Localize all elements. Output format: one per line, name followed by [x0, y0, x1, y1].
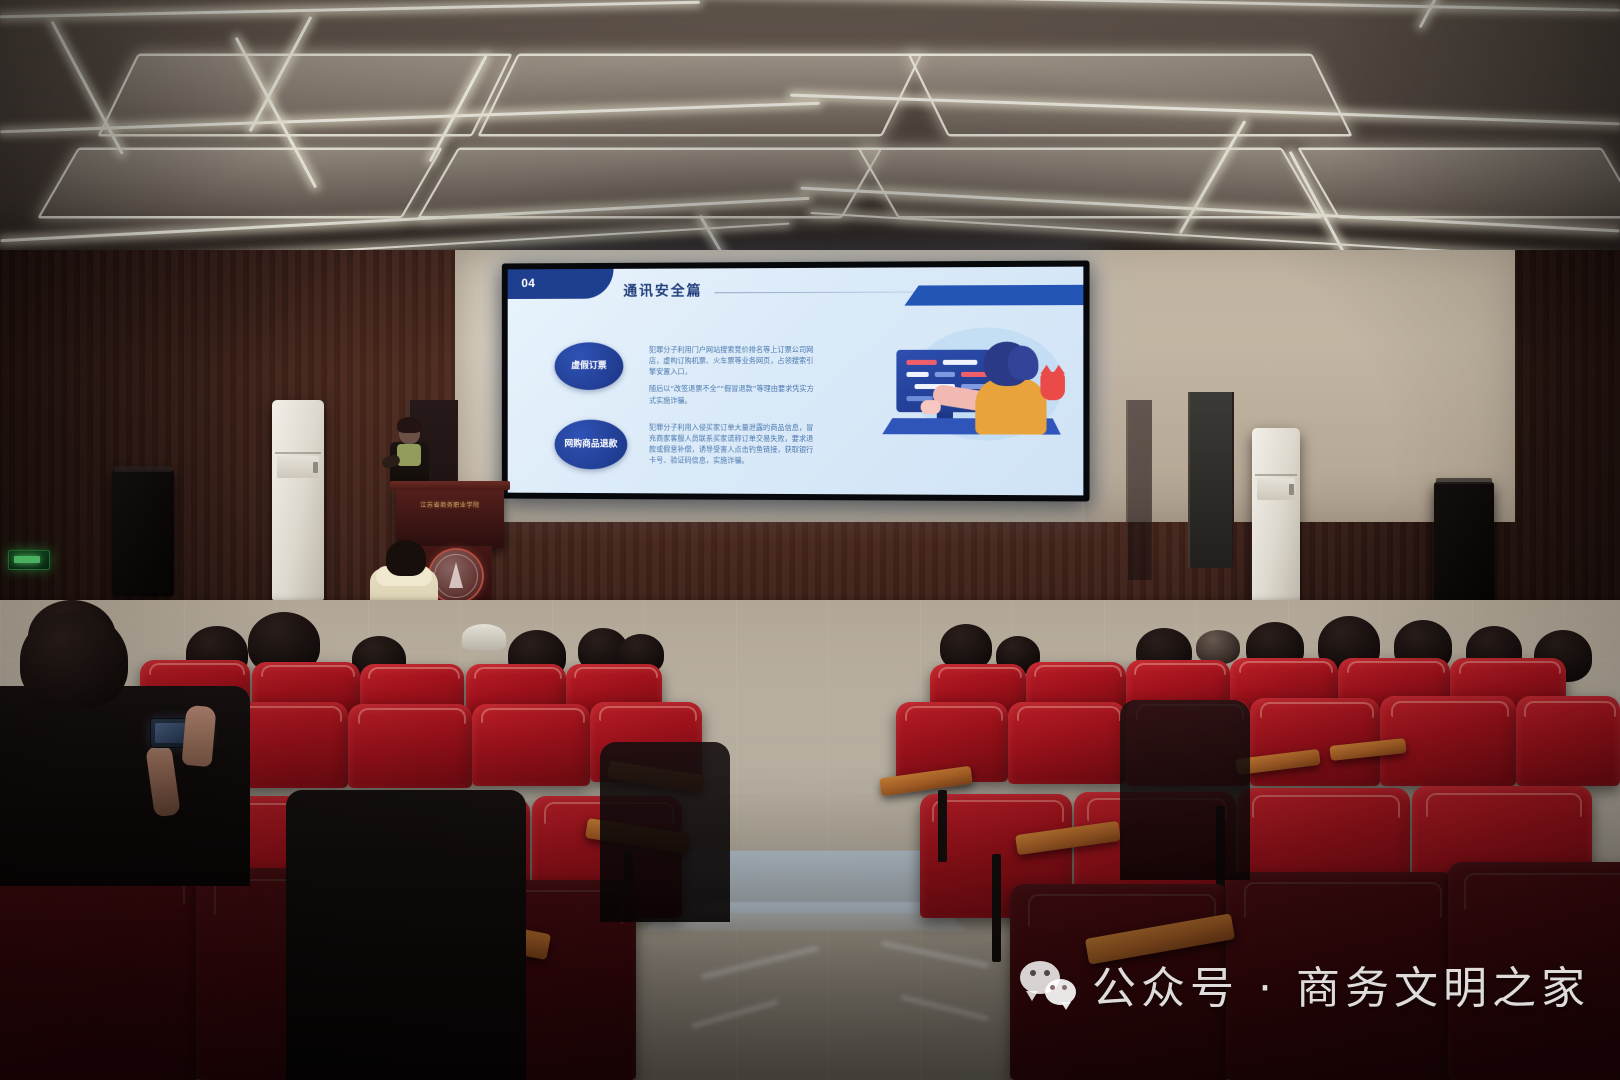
- ac-seam: [1255, 474, 1297, 476]
- ceiling-led-strip: [51, 21, 124, 155]
- speaker-left: [112, 470, 174, 596]
- emblem-ring: [434, 554, 478, 598]
- presentation-slide: 04 通讯安全篇 虚假订票 网购商品退款 犯罪分子利用门户网站搜索竞价排名等上订…: [508, 267, 1084, 496]
- audience-head: [1196, 630, 1240, 664]
- slide-title: 通讯安全篇: [623, 280, 702, 300]
- slide-corner-accent: [904, 285, 1083, 306]
- auditorium-seat: [348, 704, 472, 788]
- audience-hand: [181, 705, 216, 767]
- slide-illustration: [878, 325, 1069, 457]
- seat-leg: [992, 854, 1001, 962]
- lectern-top: [390, 481, 510, 490]
- code-line: [943, 360, 977, 365]
- auditorium-photo: 04 通讯安全篇 虚假订票 网购商品退款 犯罪分子利用门户网站搜索竞价排名等上订…: [0, 0, 1620, 1080]
- slide-topic-label-2: 网购商品退款: [555, 420, 628, 470]
- attendee-hair: [386, 540, 426, 576]
- ceiling-led-strip: [0, 1, 700, 19]
- slide-bullet: 犯罪分子利用入侵买家订单大量泄露的商品信息，冒充商家客服人员联系买家谎称订单交易…: [649, 422, 816, 467]
- code-line: [935, 372, 955, 377]
- wechat-icon: [1020, 961, 1076, 1007]
- audience-silhouette: [1120, 700, 1250, 880]
- auditorium-seat: [472, 704, 590, 786]
- ceiling-led-strip: [1419, 0, 1497, 28]
- speaker-top: [114, 466, 172, 472]
- slide-bullet: 犯罪分子利用门户网站搜索竞价排名等上订票公司网店，虚构订购机票、火车票等业务网页…: [649, 344, 816, 378]
- code-line: [906, 360, 936, 365]
- ac-indicator: [1289, 484, 1294, 495]
- ceiling-light-panel: [861, 150, 1319, 216]
- code-line: [906, 372, 928, 377]
- illustration-cat-icon: [1040, 372, 1065, 400]
- wechat-eye: [1062, 985, 1067, 990]
- ceiling-light-panel: [41, 150, 439, 216]
- audience-silhouette: [286, 790, 526, 1080]
- ac-indicator: [313, 462, 318, 473]
- exit-sign: [8, 550, 50, 570]
- ceiling-light-panel: [911, 56, 1349, 134]
- wall-recess: [1126, 400, 1152, 580]
- air-conditioner-left: [272, 400, 324, 600]
- lectern: 江苏省商务职业学院: [396, 486, 504, 548]
- ceiling-led-strip: [700, 0, 1620, 12]
- audience-cap: [462, 624, 506, 650]
- ac-seam: [275, 452, 321, 454]
- ceiling: [0, 0, 1620, 268]
- wechat-eye: [1044, 970, 1050, 976]
- air-conditioner-right: [1252, 428, 1300, 606]
- slide-section-number: 04: [521, 276, 535, 290]
- wechat-eye: [1050, 985, 1055, 990]
- audience-head-foreground: [20, 612, 128, 708]
- illustration-body: [975, 378, 1046, 435]
- slide-section-badge: 04: [508, 269, 614, 299]
- audience-silhouette: [600, 742, 730, 922]
- wechat-bubble-small: [1045, 979, 1076, 1005]
- slide-topic-1-body: 犯罪分子利用门户网站搜索竞价排名等上订票公司网店，虚构订购机票、火车票等业务网页…: [649, 344, 816, 406]
- slide-topic-label-1: 虚假订票: [555, 342, 624, 390]
- projection-screen: 04 通讯安全篇 虚假订票 网购商品退款 犯罪分子利用门户网站搜索竞价排名等上订…: [502, 260, 1090, 501]
- presenter-scarf: [397, 444, 421, 466]
- ceiling-light-panel: [1301, 150, 1620, 216]
- slide-topic-2-body: 犯罪分子利用入侵买家订单大量泄露的商品信息，冒充商家客服人员联系买家谎称订单交易…: [649, 422, 816, 467]
- stage-door-right: [1188, 392, 1234, 568]
- auditorium-seat-foreground: [0, 856, 200, 1080]
- lectern-engraving: 江苏省商务职业学院: [404, 500, 496, 509]
- speaker-top: [1436, 478, 1492, 484]
- illustration-hair: [1008, 346, 1039, 380]
- watermark-text: 公众号 · 商务文明之家: [1092, 952, 1590, 1016]
- presenter-hair: [397, 417, 422, 433]
- auditorium-seat: [1516, 696, 1620, 786]
- seat-leg: [938, 790, 947, 862]
- wechat-eye: [1030, 970, 1036, 976]
- auditorium-seat: [1008, 702, 1126, 784]
- slide-bullet: 随后以“改签退票不全”“假冒退款”等理由要求凭实方式实施诈骗。: [649, 383, 816, 405]
- watermark: 公众号 · 商务文明之家: [1020, 952, 1590, 1016]
- illustration-hand: [921, 400, 941, 414]
